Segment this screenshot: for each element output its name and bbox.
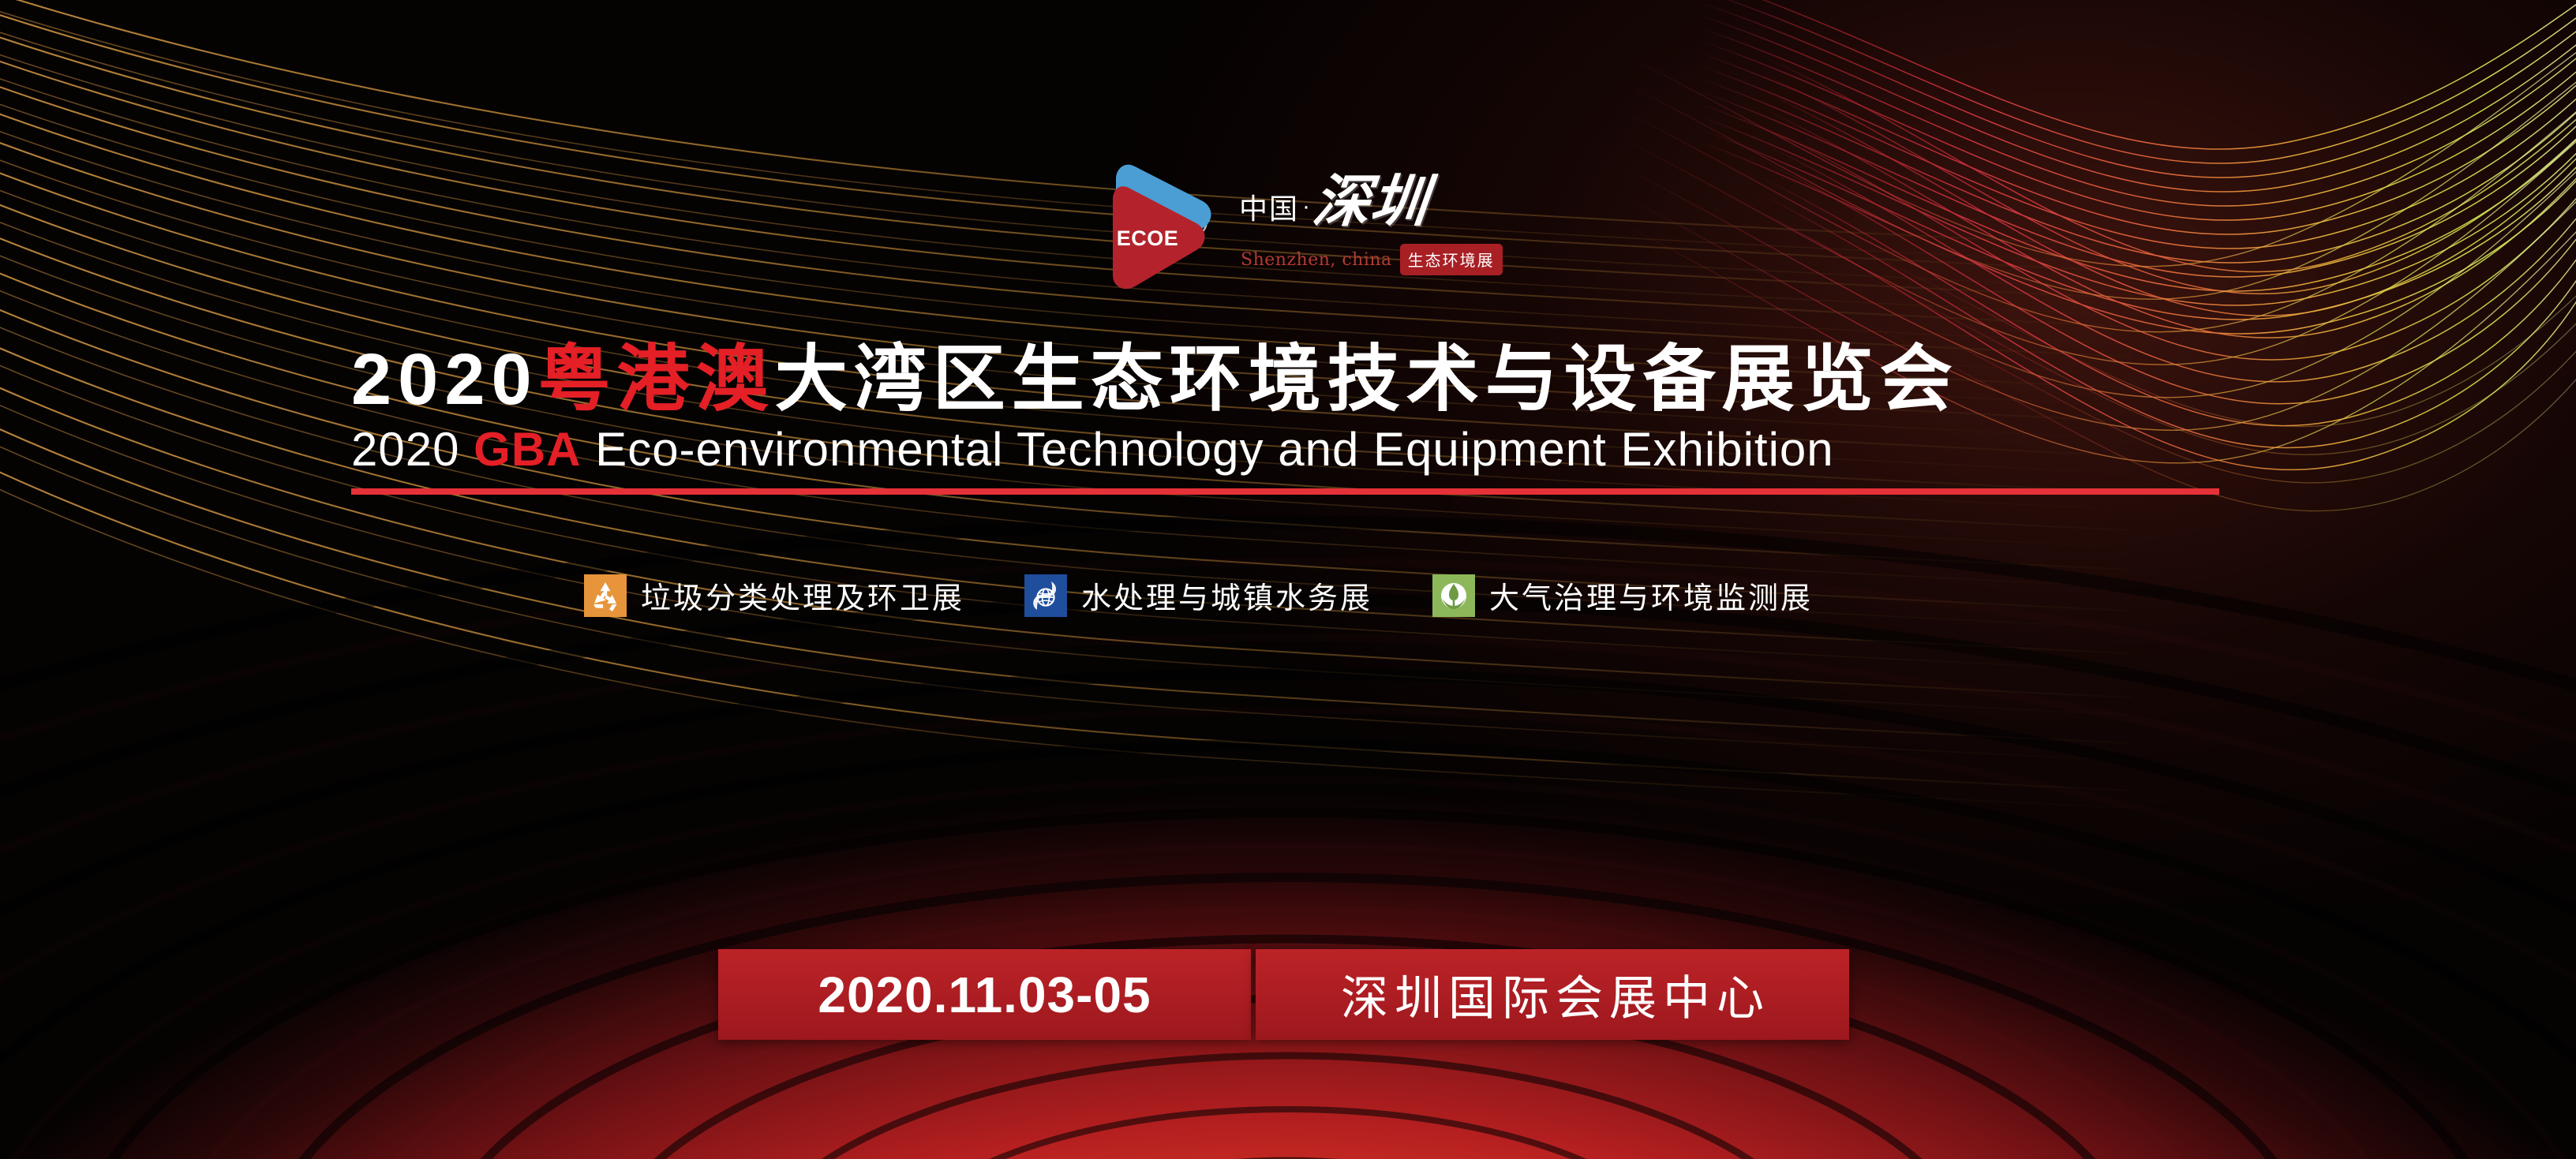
- category-label: 垃圾分类处理及环卫展: [641, 574, 964, 617]
- title-cn-region: 粤港澳: [538, 339, 775, 420]
- logo-text-block: 中国 · 深圳 Shenzhen, china 生态环境展: [1239, 165, 1452, 291]
- title-en-year: 2020: [351, 423, 459, 476]
- date-chip: 2020.11.03-05: [718, 949, 1251, 1040]
- water-globe-icon: [1024, 574, 1067, 617]
- logo-city: 深圳: [1310, 173, 1432, 230]
- logo-separator: ·: [1302, 195, 1310, 230]
- category-item-air[interactable]: 大气治理与环境监测展: [1432, 574, 1813, 617]
- category-label: 大气治理与环境监测展: [1489, 574, 1813, 617]
- category-item-waste[interactable]: 垃圾分类处理及环卫展: [584, 574, 964, 617]
- title-cn-rest: 大湾区生态环境技术与设备展览会: [775, 339, 1959, 420]
- svg-text:ECOE: ECOE: [1117, 226, 1179, 250]
- event-logo: ECOE 中国 · 深圳 Shenzhen, china 生态环境展: [1111, 162, 1452, 294]
- event-date: 2020.11.03-05: [818, 966, 1151, 1024]
- date-venue-bar: 2020.11.03-05 深圳国际会展中心: [718, 949, 1849, 1040]
- category-list: 垃圾分类处理及环卫展: [584, 574, 1813, 617]
- title-en-region: GBA: [474, 423, 581, 476]
- title-cn-year: 2020: [351, 339, 538, 420]
- category-item-water[interactable]: 水处理与城镇水务展: [1024, 574, 1372, 617]
- title-chinese: 2020粤港澳大湾区生态环境技术与设备展览会: [351, 341, 2223, 419]
- venue-chip: 深圳国际会展中心: [1256, 949, 1849, 1040]
- logo-pinyin: Shenzhen, china: [1241, 250, 1392, 270]
- event-venue: 深圳国际会展中心: [1335, 960, 1770, 1029]
- exhibition-banner: ECOE 中国 · 深圳 Shenzhen, china 生态环境展 2020粤…: [0, 0, 2576, 1159]
- ecoe-logo-mark: ECOE: [1111, 162, 1215, 294]
- category-label: 水处理与城镇水务展: [1081, 574, 1372, 617]
- title-block: 2020粤港澳大湾区生态环境技术与设备展览会 2020 GBA Eco-envi…: [351, 341, 2223, 495]
- title-en-rest: Eco-environmental Technology and Equipme…: [595, 423, 1834, 476]
- logo-eco-badge: 生态环境展: [1400, 244, 1503, 275]
- title-underline-rule: [351, 488, 2219, 495]
- recycle-icon: [584, 574, 627, 617]
- title-english: 2020 GBA Eco-environmental Technology an…: [351, 424, 2223, 476]
- leaf-air-icon: [1432, 574, 1475, 617]
- logo-country: 中国: [1239, 196, 1299, 230]
